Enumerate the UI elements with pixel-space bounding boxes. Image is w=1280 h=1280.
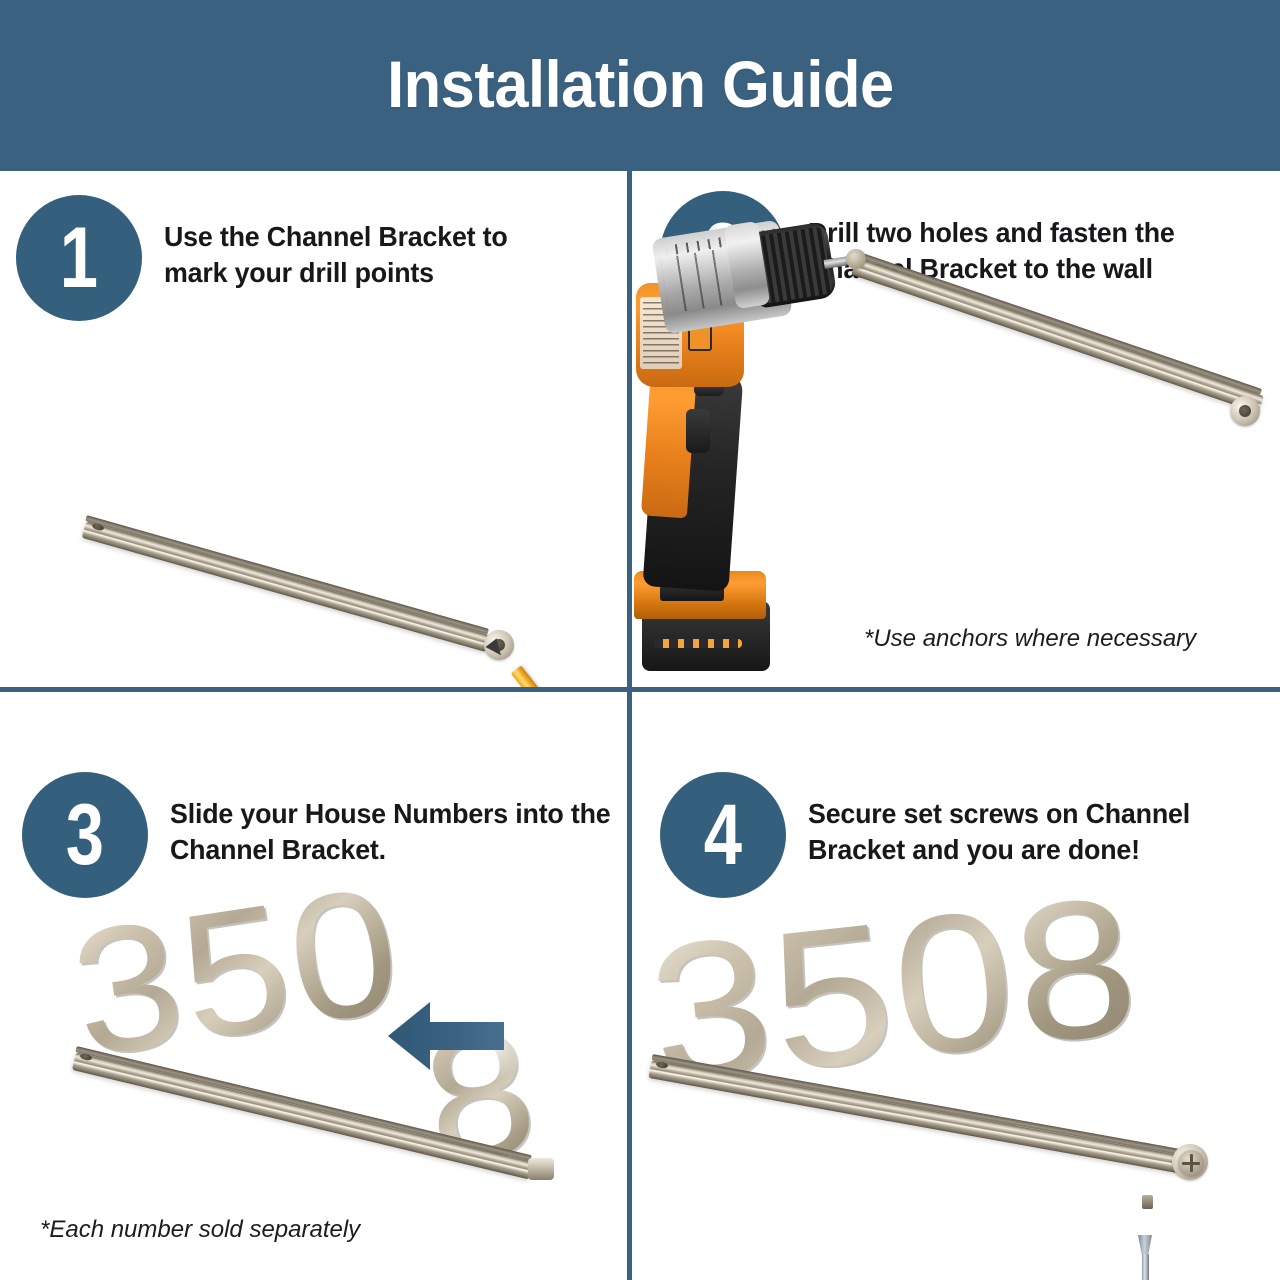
pencil-body [511, 665, 614, 687]
channel-bracket-lip [85, 515, 489, 635]
loose-set-screw [1142, 1195, 1153, 1209]
channel-bracket-illustration [0, 171, 627, 687]
sliding-numbers-illustration: 350 350 8 8 [0, 692, 627, 1280]
step-panel-1: 1 Use the Channel Bracket to mark your d… [0, 171, 627, 687]
step-panel-3: 3 Slide your House Numbers into the Chan… [0, 692, 627, 1280]
page-title: Installation Guide [387, 46, 894, 122]
drill-trigger [686, 409, 710, 453]
set-screw-cross-horizontal [1182, 1162, 1200, 1165]
page-header: Installation Guide [0, 0, 1280, 168]
screwdriver-shaft [1142, 1254, 1149, 1280]
drill-illustration [632, 171, 1280, 687]
channel-bracket-rail [851, 257, 1264, 413]
step-2-note-1: *Use anchors where necessary [864, 623, 1196, 655]
mounting-screw-head [846, 249, 866, 269]
installation-guide-page: Installation Guide 1 Use the Channel Bra… [0, 0, 1280, 1280]
bracket-right-hole [1239, 405, 1251, 417]
step-panel-4: 4 Secure set screws on Channel Bracket a… [632, 692, 1280, 1280]
step-3-note-1: *Each number sold separately [40, 1214, 360, 1246]
slide-direction-arrow [386, 992, 510, 1080]
arrow-left-icon [386, 992, 510, 1080]
house-numbers-mounted: 350 [62, 860, 412, 1084]
drill-battery-led-strip [654, 639, 742, 648]
bracket-right-endcap [528, 1158, 554, 1180]
step-panel-2: 2 Drill two holes and fasten the Channel… [632, 171, 1280, 687]
finished-numbers-illustration: 3508 3508 [632, 692, 1280, 1280]
channel-bracket-rail [82, 521, 491, 652]
channel-bracket-lip [855, 251, 1262, 395]
